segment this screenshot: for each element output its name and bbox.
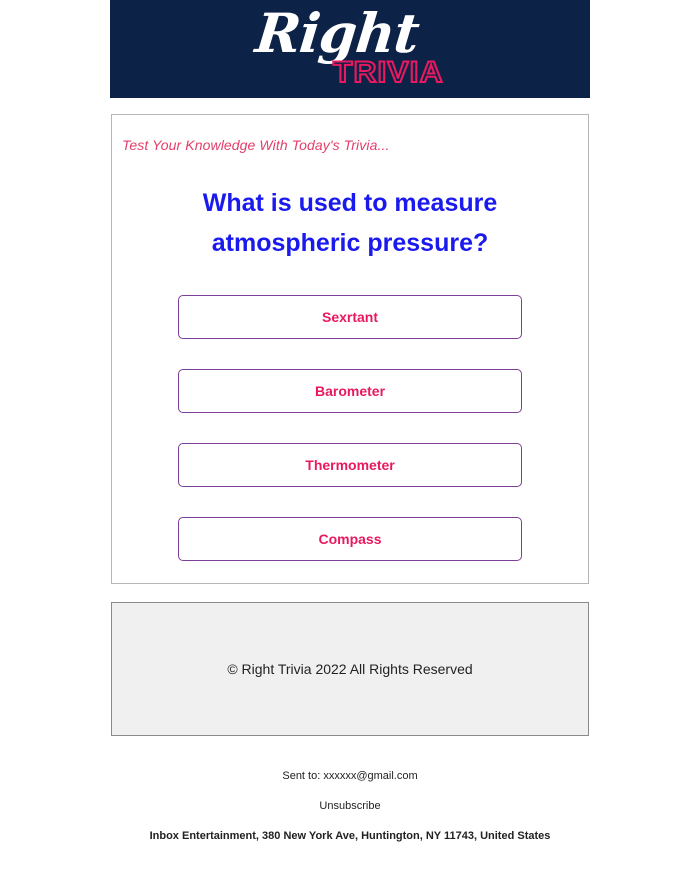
email-body: Right TRIVIA Test Your Knowledge With To… (0, 0, 700, 842)
logo-script-text: Right (253, 6, 421, 60)
sent-to-text: Sent to: xxxxxx@gmail.com (70, 770, 630, 782)
company-address: Inbox Entertainment, 380 New York Ave, H… (70, 830, 630, 842)
answer-list: Sexrtant Barometer Thermometer Compass (178, 295, 522, 561)
question-text: What is used to measure atmospheric pres… (170, 183, 530, 263)
answer-option-1[interactable]: Sexrtant (178, 295, 522, 339)
quiz-card: Test Your Knowledge With Today's Trivia.… (111, 114, 589, 584)
answer-option-2[interactable]: Barometer (178, 369, 522, 413)
copyright-text: © Right Trivia 2022 All Rights Reserved (227, 661, 472, 677)
logo-block-text: TRIVIA (333, 58, 444, 88)
brand-header: Right TRIVIA (110, 0, 590, 98)
copyright-box: © Right Trivia 2022 All Rights Reserved (111, 602, 589, 736)
logo-lockup: Right TRIVIA (110, 0, 590, 98)
unsubscribe-link[interactable]: Unsubscribe (70, 800, 630, 812)
legal-footer: Sent to: xxxxxx@gmail.com Unsubscribe In… (70, 770, 630, 842)
tagline: Test Your Knowledge With Today's Trivia.… (112, 133, 588, 153)
answer-option-3[interactable]: Thermometer (178, 443, 522, 487)
answer-option-4[interactable]: Compass (178, 517, 522, 561)
